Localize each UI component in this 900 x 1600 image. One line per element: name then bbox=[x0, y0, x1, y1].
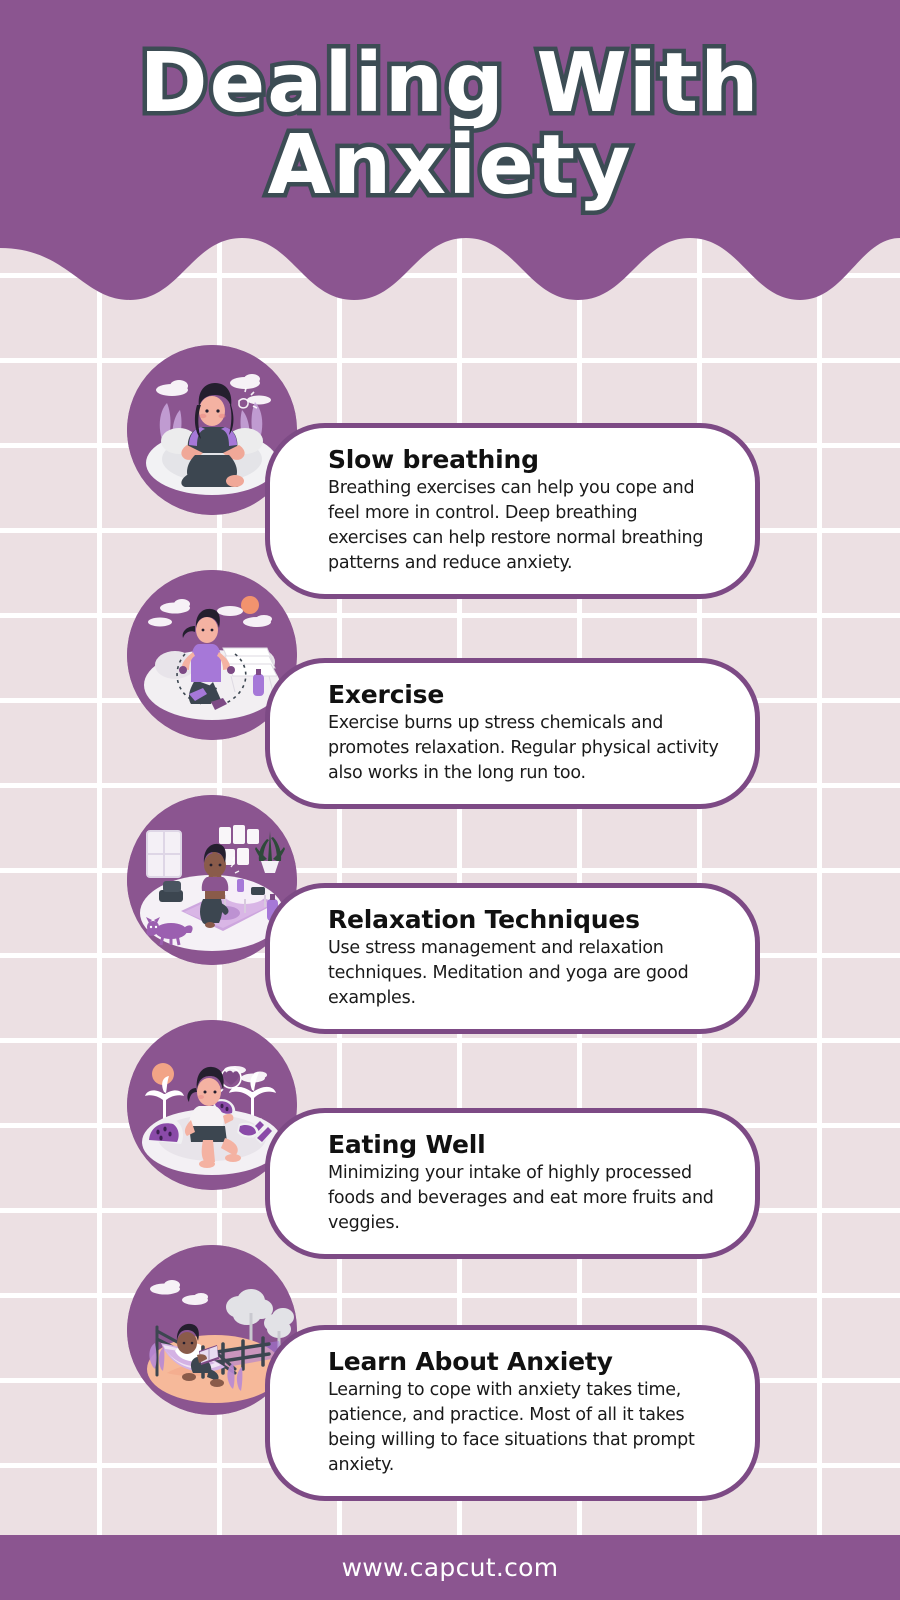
poster-title: Dealing With Anxiety bbox=[0, 0, 900, 250]
card-body: Use stress management and relaxation tec… bbox=[328, 936, 721, 1011]
tip-card-2[interactable]: Exercise Exercise burns up stress chemic… bbox=[265, 658, 760, 809]
tip-card-5[interactable]: Learn About Anxiety Learning to cope wit… bbox=[265, 1325, 760, 1501]
card-body: Learning to cope with anxiety takes time… bbox=[328, 1378, 721, 1477]
title-line-1: Dealing With bbox=[140, 44, 761, 124]
infographic-poster: Dealing With Anxiety bbox=[0, 0, 900, 1600]
footer-url[interactable]: www.capcut.com bbox=[342, 1553, 559, 1582]
header-banner: Dealing With Anxiety bbox=[0, 0, 900, 340]
title-line-2: Anxiety bbox=[267, 126, 632, 206]
card-body: Minimizing your intake of highly process… bbox=[328, 1161, 721, 1236]
tip-card-4[interactable]: Eating Well Minimizing your intake of hi… bbox=[265, 1108, 760, 1259]
tip-card-1[interactable]: Slow breathing Breathing exercises can h… bbox=[265, 423, 760, 599]
footer-bar: www.capcut.com bbox=[0, 1535, 900, 1600]
tip-card-3[interactable]: Relaxation Techniques Use stress managem… bbox=[265, 883, 760, 1034]
card-title: Learn About Anxiety bbox=[328, 1346, 721, 1377]
card-title: Slow breathing bbox=[328, 444, 721, 475]
card-body: Breathing exercises can help you cope an… bbox=[328, 476, 721, 575]
card-title: Exercise bbox=[328, 679, 721, 710]
card-title: Eating Well bbox=[328, 1129, 721, 1160]
card-body: Exercise burns up stress chemicals and p… bbox=[328, 711, 721, 786]
card-title: Relaxation Techniques bbox=[328, 904, 721, 935]
